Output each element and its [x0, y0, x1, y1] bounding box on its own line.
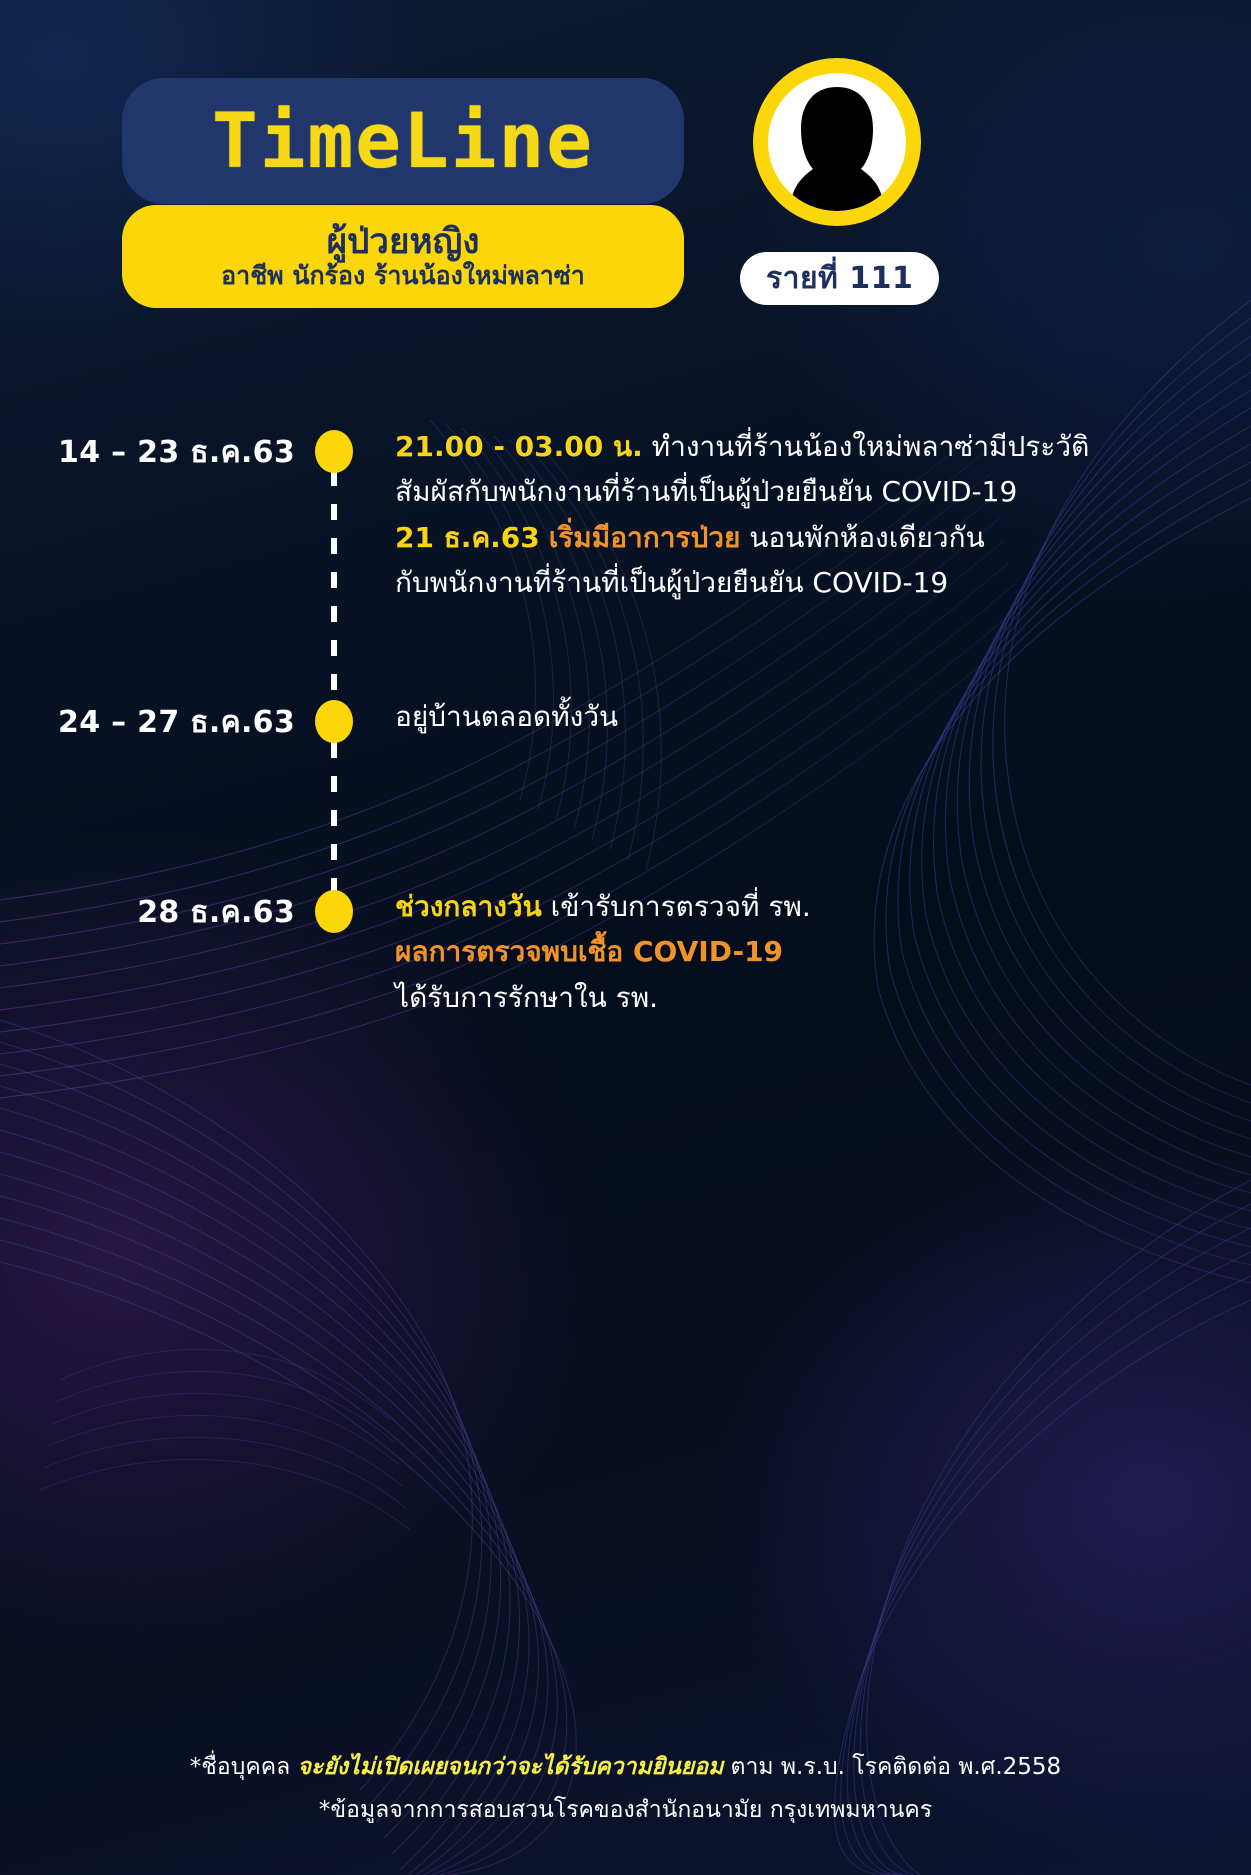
- timeline-dashed-axis: [331, 470, 337, 894]
- footer-line-2: *ข้อมูลจากการสอบสวนโรคของสำนักอนามัย กรุ…: [0, 1789, 1251, 1833]
- timeline-text-line: 21.00 - 03.00 น. ทำงานที่ร้านน้องใหม่พลา…: [395, 424, 1215, 469]
- timeline-text-run-0: ช่วงกลางวัน: [395, 890, 542, 923]
- timeline-title-plate: TimeLine: [122, 78, 684, 204]
- timeline-entry-body: อยู่บ้านตลอดทั้งวัน: [395, 694, 1215, 739]
- footer-1-run-1: จะยังไม่เปิดเผยจนกว่าจะได้รับความยินยอม: [298, 1754, 724, 1780]
- avatar: [753, 58, 921, 226]
- timeline-text-run-0: ได้รับการรักษาใน รพ.: [395, 981, 658, 1014]
- case-number-text: รายที่ 111: [766, 255, 913, 302]
- timeline-dot: [315, 430, 353, 473]
- timeline-text-line: กับพนักงานที่ร้านที่เป็นผู้ป่วยยืนยัน CO…: [395, 560, 1215, 605]
- timeline-date: 28 ธ.ค.63: [55, 898, 295, 928]
- header: TimeLine ผู้ป่วยหญิง อาชีพ นักร้อง ร้านน…: [0, 0, 1251, 340]
- timeline-text-run-0: กับพนักงานที่ร้านที่เป็นผู้ป่วยยืนยัน CO…: [395, 566, 948, 599]
- case-number-badge: รายที่ 111: [740, 252, 939, 305]
- timeline-text-run-3: นอนพักห้องเดียวกัน: [740, 521, 984, 554]
- timeline-text-run-1: ทำงานที่ร้านน้องใหม่พลาซ่ามีประวัติ: [643, 430, 1089, 463]
- footer-disclaimer: *ชื่อบุคคล จะยังไม่เปิดเผยจนกว่าจะได้รับ…: [0, 1746, 1251, 1833]
- timeline-text-line: สัมผัสกับพนักงานที่ร้านที่เป็นผู้ป่วยยืน…: [395, 469, 1215, 514]
- footer-2-run-0: *ข้อมูลจากการสอบสวนโรคของสำนักอนามัย กรุ…: [319, 1797, 932, 1823]
- timeline-text-run-1: เข้ารับการตรวจที่ รพ.: [542, 890, 811, 923]
- timeline-text-run-0: 21.00 - 03.00 น.: [395, 430, 643, 463]
- timeline-entry-body: 21.00 - 03.00 น. ทำงานที่ร้านน้องใหม่พลา…: [395, 424, 1215, 605]
- subject-title: ผู้ป่วยหญิง: [327, 224, 480, 261]
- timeline-date: 14 – 23 ธ.ค.63: [55, 438, 295, 468]
- timeline-text-run-0: 21 ธ.ค.63: [395, 521, 540, 554]
- timeline-dot: [315, 700, 353, 743]
- infographic-canvas: TimeLine ผู้ป่วยหญิง อาชีพ นักร้อง ร้านน…: [0, 0, 1251, 1875]
- timeline-dot: [315, 890, 353, 933]
- timeline-text-line: ผลการตรวจพบเชื้อ COVID-19: [395, 929, 1215, 974]
- timeline-text-line: 21 ธ.ค.63 เริ่มมีอาการป่วย นอนพักห้องเดี…: [395, 515, 1215, 560]
- timeline-text-line: อยู่บ้านตลอดทั้งวัน: [395, 694, 1215, 739]
- timeline-text-run-0: ผลการตรวจพบเชื้อ COVID-19: [395, 935, 783, 968]
- page-title: TimeLine: [212, 103, 594, 179]
- avatar-inner: [768, 73, 906, 211]
- timeline-entry-body: ช่วงกลางวัน เข้ารับการตรวจที่ รพ.ผลการตร…: [395, 884, 1215, 1020]
- timeline-text-run-0: อยู่บ้านตลอดทั้งวัน: [395, 700, 618, 733]
- subject-plate: ผู้ป่วยหญิง อาชีพ นักร้อง ร้านน้องใหม่พล…: [122, 205, 684, 308]
- timeline-text-run-1: [540, 521, 549, 554]
- footer-line-1: *ชื่อบุคคล จะยังไม่เปิดเผยจนกว่าจะได้รับ…: [0, 1746, 1251, 1790]
- subject-occupation: อาชีพ นักร้อง ร้านน้องใหม่พลาซ่า: [221, 262, 585, 290]
- person-silhouette-icon: [768, 73, 906, 211]
- footer-1-run-0: *ชื่อบุคคล: [190, 1754, 298, 1780]
- timeline-text-run-0: สัมผัสกับพนักงานที่ร้านที่เป็นผู้ป่วยยืน…: [395, 475, 1017, 508]
- timeline-text-run-2: เริ่มมีอาการป่วย: [549, 521, 741, 554]
- timeline-text-line: ช่วงกลางวัน เข้ารับการตรวจที่ รพ.: [395, 884, 1215, 929]
- timeline-text-line: ได้รับการรักษาใน รพ.: [395, 975, 1215, 1020]
- timeline-date: 24 – 27 ธ.ค.63: [55, 708, 295, 738]
- footer-1-run-2: ตาม พ.ร.บ. โรคติดต่อ พ.ศ.2558: [723, 1754, 1061, 1780]
